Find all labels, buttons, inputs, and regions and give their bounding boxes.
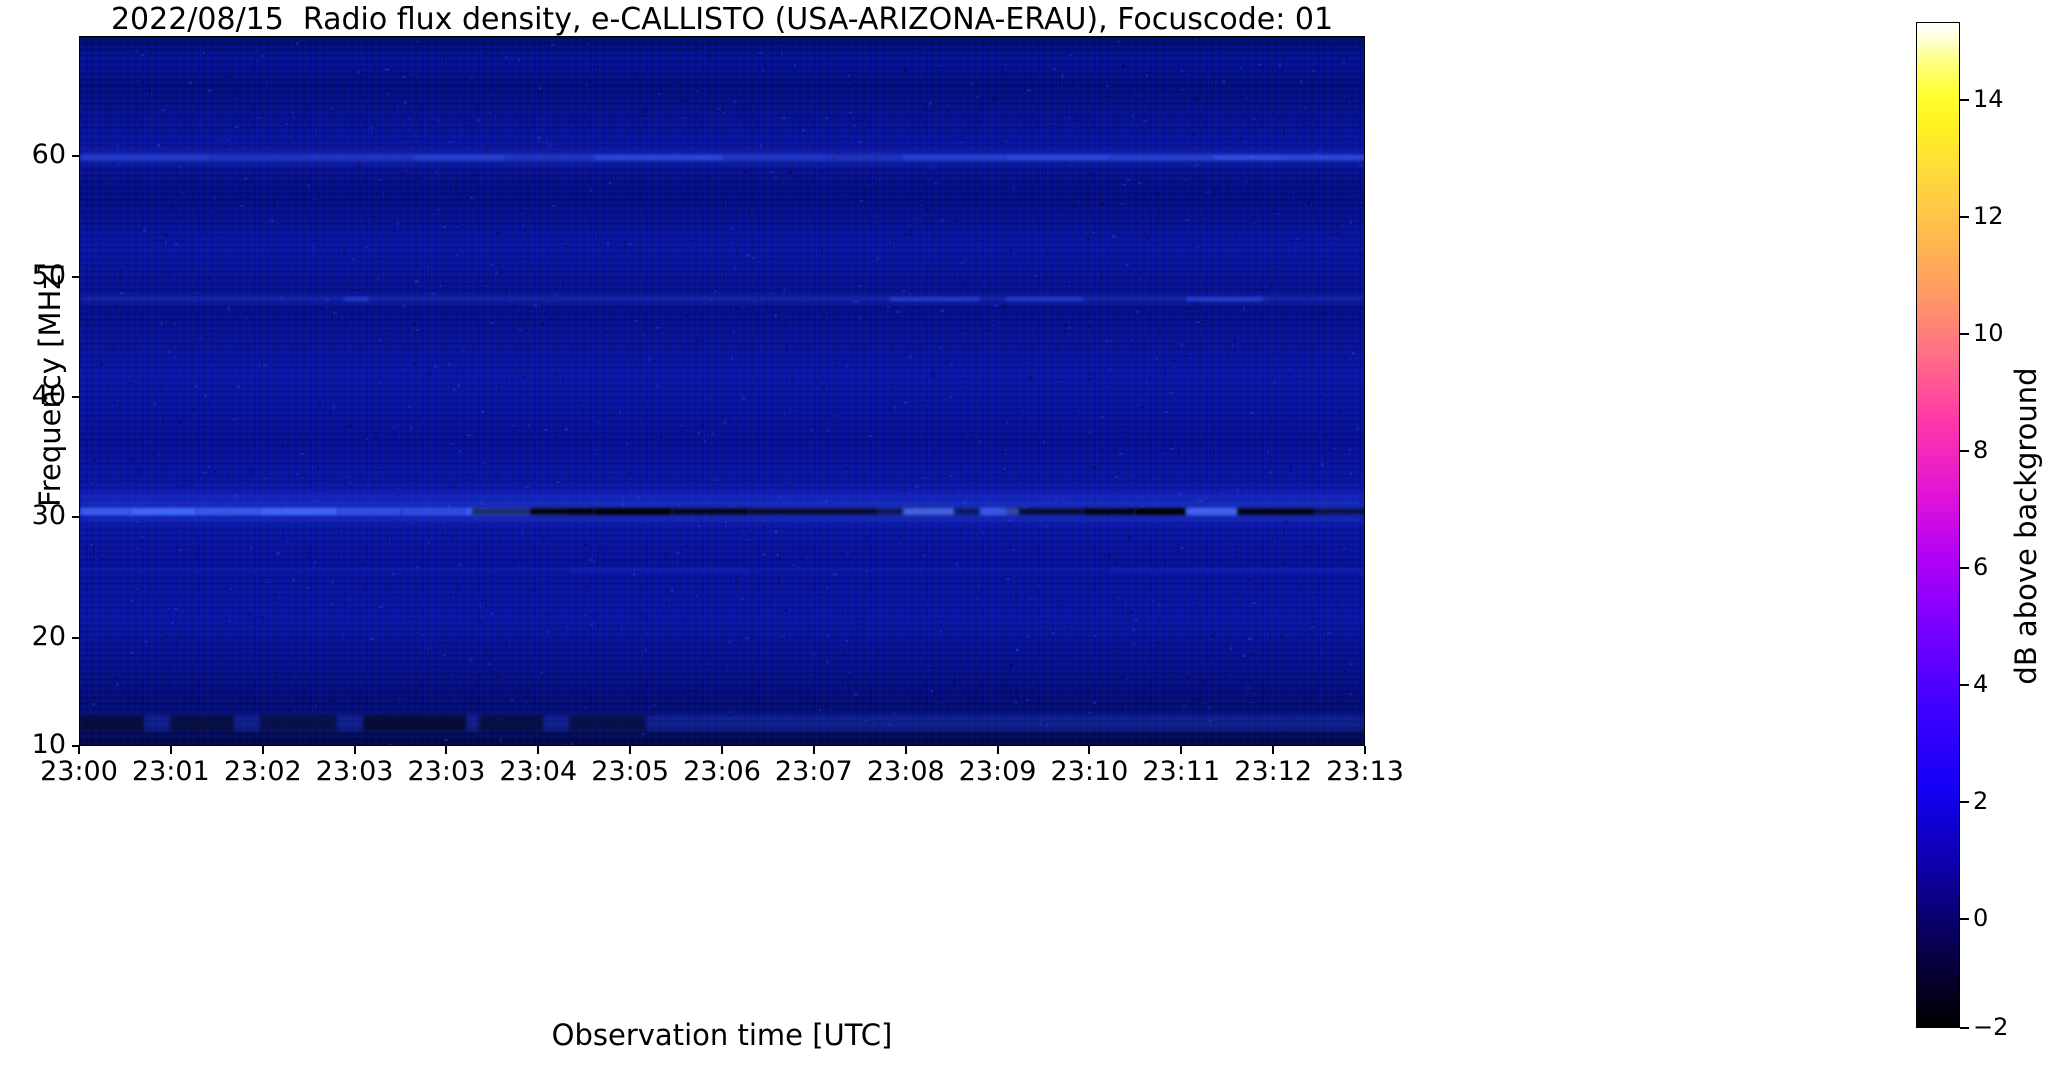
spectrogram-speckle — [1175, 339, 1177, 341]
spectrogram-speckle — [344, 90, 346, 92]
spectrogram-speckle — [205, 269, 208, 271]
spectrogram-band-segment — [337, 508, 401, 515]
spectrogram-speckle — [809, 527, 812, 528]
spectrogram-speckle — [1029, 516, 1031, 518]
spectrogram-speckle — [519, 333, 522, 334]
spectrogram-speckle — [259, 462, 261, 465]
spectrogram-speckle — [1029, 598, 1032, 599]
spectrogram-speckle — [1206, 98, 1208, 101]
spectrogram-speckle — [1090, 173, 1093, 175]
spectrogram-speckle — [1027, 635, 1029, 638]
spectrogram-speckle — [1004, 64, 1007, 65]
spectrogram-speckle — [1222, 190, 1226, 192]
spectrogram-speckle — [590, 623, 593, 626]
spectrogram-speckle — [485, 178, 486, 180]
spectrogram-speckle — [349, 482, 351, 485]
spectrogram-speckle — [450, 58, 451, 59]
spectrogram-speckle — [978, 586, 980, 588]
spectrogram-speckle — [1078, 410, 1080, 412]
spectrogram-speckle — [896, 311, 900, 313]
spectrogram-band-segment — [903, 508, 954, 515]
spectrogram-speckle — [729, 711, 731, 713]
spectrogram-speckle — [341, 634, 344, 635]
spectrogram-speckle — [518, 159, 521, 161]
spectrogram-band-segment — [344, 297, 370, 301]
spectrogram-speckle — [422, 634, 425, 636]
spectrogram-band-dark-segment — [479, 715, 543, 731]
spectrogram-speckle — [1285, 520, 1288, 523]
spectrogram-speckle — [1206, 657, 1210, 659]
spectrogram-speckle — [979, 440, 981, 443]
spectrogram-speckle — [581, 198, 582, 200]
spectrogram-speckle — [926, 132, 929, 133]
spectrogram-speckle — [1146, 74, 1147, 77]
spectrogram-speckle — [1117, 472, 1121, 473]
spectrogram-speckle — [762, 499, 765, 500]
spectrogram-speckle — [817, 603, 819, 604]
spectrogram-speckle — [478, 674, 482, 676]
spectrogram-speckle — [428, 541, 430, 543]
spectrogram-speckle — [87, 418, 90, 420]
spectrogram-speckle — [993, 98, 996, 101]
spectrogram-speckle — [971, 82, 973, 84]
spectrogram-speckle — [155, 239, 158, 242]
spectrogram-speckle — [434, 280, 435, 283]
spectrogram-speckle — [167, 273, 169, 275]
spectrogram-speckle — [600, 330, 601, 333]
spectrogram-speckle — [505, 644, 507, 647]
spectrogram-speckle — [1037, 585, 1040, 586]
spectrogram-speckle — [389, 586, 391, 588]
spectrogram-speckle — [909, 293, 910, 296]
spectrogram-speckle — [976, 598, 977, 600]
spectrogram-speckle — [819, 404, 820, 406]
spectrogram-speckle — [1268, 153, 1270, 154]
spectrogram-speckle — [791, 379, 793, 382]
spectrogram-speckle — [153, 211, 154, 214]
spectrogram-speckle — [685, 315, 689, 317]
spectrogram-speckle — [765, 349, 768, 351]
spectrogram-speckle — [998, 73, 999, 74]
spectrogram-speckle — [929, 566, 931, 568]
spectrogram-speckle — [209, 39, 211, 42]
spectrogram-speckle — [285, 541, 289, 542]
spectrogram-speckle — [890, 149, 893, 151]
spectrogram-speckle — [1093, 499, 1096, 500]
spectrogram-speckle — [500, 541, 502, 544]
spectrogram-speckle — [243, 321, 244, 323]
spectrogram-speckle — [677, 708, 679, 710]
spectrogram-speckle — [1363, 155, 1365, 157]
spectrogram-speckle — [414, 332, 415, 335]
spectrogram-speckle — [1112, 235, 1116, 237]
spectrogram-speckle — [1181, 70, 1183, 72]
spectrogram-speckle — [500, 529, 504, 530]
spectrogram-speckle — [1045, 525, 1046, 528]
spectrogram-speckle — [312, 247, 314, 249]
spectrogram-speckle — [246, 300, 248, 302]
spectrogram-speckle — [404, 101, 406, 104]
spectrogram-speckle — [826, 312, 827, 315]
spectrogram-speckle — [1056, 425, 1058, 427]
spectrogram-speckle — [858, 155, 860, 158]
spectrogram-speckle — [619, 411, 622, 413]
spectrogram-speckle — [704, 259, 706, 261]
spectrogram-speckle — [117, 164, 121, 165]
spectrogram-speckle — [116, 145, 118, 147]
spectrogram-speckle — [698, 524, 700, 527]
spectrogram-speckle — [664, 696, 666, 698]
spectrogram-speckle — [279, 596, 280, 599]
spectrogram-speckle — [1022, 410, 1024, 413]
spectrogram-speckle — [389, 542, 390, 544]
spectrogram-speckle — [827, 56, 830, 57]
spectrogram-speckle — [279, 533, 282, 534]
spectrogram-speckle — [882, 200, 885, 201]
spectrogram-speckle — [628, 731, 630, 732]
spectrogram-speckle — [343, 252, 346, 254]
spectrogram-speckle — [774, 530, 777, 533]
spectrogram-speckle — [1124, 603, 1126, 605]
spectrogram-speckle — [1018, 475, 1019, 476]
y-axis-tick-mark — [72, 516, 80, 518]
spectrogram-speckle — [953, 679, 956, 681]
spectrogram-speckle — [391, 156, 392, 157]
spectrogram-speckle — [155, 657, 157, 660]
spectrogram-speckle — [1311, 204, 1312, 207]
spectrogram-speckle — [877, 725, 880, 728]
spectrogram-speckle — [858, 285, 860, 287]
spectrogram-speckle — [565, 744, 567, 745]
spectrogram-speckle — [440, 285, 443, 287]
spectrogram-speckle — [1195, 164, 1199, 166]
spectrogram-speckle — [996, 474, 998, 476]
spectrogram-speckle — [1034, 275, 1037, 277]
spectrogram-speckle — [265, 41, 268, 43]
spectrogram-speckle — [1193, 495, 1197, 497]
spectrogram-speckle — [176, 221, 178, 223]
spectrogram-speckle — [383, 192, 384, 195]
spectrogram-speckle — [1336, 232, 1338, 233]
spectrogram-speckle — [911, 292, 913, 294]
spectrogram-speckle — [374, 216, 378, 218]
spectrogram-speckle — [815, 676, 817, 679]
spectrogram-speckle — [859, 141, 861, 143]
spectrogram-band-dark-segment — [1006, 508, 1083, 515]
spectrogram-speckle — [370, 638, 374, 641]
spectrogram-speckle — [167, 351, 171, 353]
spectrogram-band-dark-segment — [1135, 508, 1186, 515]
spectrogram-band-segment — [80, 155, 209, 160]
spectrogram-speckle — [294, 711, 297, 712]
spectrogram-speckle — [961, 262, 964, 264]
spectrogram-speckle — [971, 717, 973, 719]
spectrogram-speckle — [258, 117, 261, 119]
spectrogram-speckle — [731, 357, 733, 360]
colorbar — [1916, 22, 1960, 1028]
spectrogram-speckle — [533, 588, 535, 590]
spectrogram-speckle — [727, 718, 731, 719]
spectrogram-speckle — [1344, 356, 1347, 359]
spectrogram-speckle — [624, 499, 625, 501]
spectrogram-speckle — [295, 528, 297, 530]
spectrogram-speckle — [631, 614, 633, 615]
spectrogram-speckle — [986, 330, 990, 332]
spectrogram-speckle — [642, 111, 646, 113]
y-axis-label: Frequency [MHz] — [33, 30, 67, 740]
spectrogram-speckle — [770, 292, 772, 293]
spectrogram-speckle — [1059, 209, 1063, 211]
spectrogram-speckle — [1140, 505, 1143, 508]
spectrogram-speckle — [525, 486, 528, 488]
spectrogram-speckle — [1252, 93, 1253, 94]
y-axis-tick-mark — [72, 396, 80, 398]
spectrogram-speckle — [444, 197, 446, 200]
spectrogram-speckle — [1057, 86, 1058, 89]
spectrogram-speckle — [628, 472, 631, 475]
spectrogram-speckle — [1247, 687, 1250, 689]
spectrogram-speckle — [752, 246, 756, 247]
spectrogram-band-segment — [890, 297, 980, 301]
spectrogram-speckle — [1271, 284, 1273, 287]
spectrogram-speckle — [480, 606, 481, 607]
spectrogram-speckle — [691, 690, 695, 691]
spectrogram-speckle — [571, 295, 574, 296]
spectrogram-speckle — [129, 459, 133, 461]
spectrogram-speckle — [973, 539, 975, 541]
spectrogram-speckle — [739, 645, 740, 648]
spectrogram-speckle — [489, 301, 491, 303]
spectrogram-speckle — [235, 528, 238, 530]
spectrogram-speckle — [674, 532, 675, 533]
x-axis-tick-mark — [1088, 746, 1090, 754]
spectrogram-speckle — [1217, 50, 1218, 51]
spectrogram-speckle — [1292, 416, 1293, 417]
spectrogram-speckle — [249, 471, 253, 473]
spectrogram-speckle — [1086, 238, 1090, 240]
spectrogram-speckle — [1188, 308, 1191, 310]
spectrogram-speckle — [622, 503, 624, 506]
spectrogram-speckle — [802, 565, 804, 568]
spectrogram-speckle — [646, 692, 648, 693]
spectrogram-speckle — [704, 78, 707, 81]
spectrogram-speckle — [1122, 65, 1123, 67]
spectrogram-speckle — [696, 90, 698, 93]
spectrogram-speckle — [579, 402, 582, 404]
spectrogram-speckle — [706, 103, 710, 104]
spectrogram-band-segment — [311, 155, 414, 160]
spectrogram-speckle — [699, 292, 701, 295]
spectrogram-speckle — [1209, 720, 1212, 722]
spectrogram-speckle — [821, 249, 823, 251]
spectrogram-speckle — [813, 121, 815, 123]
spectrogram-speckle — [894, 406, 896, 409]
spectrogram-speckle — [802, 295, 804, 298]
spectrogram-speckle — [542, 715, 544, 718]
spectrogram-speckle — [1037, 591, 1040, 594]
x-axis-tick-mark — [1364, 746, 1366, 754]
spectrogram-speckle — [849, 672, 851, 675]
spectrogram-speckle — [1336, 701, 1339, 702]
spectrogram-speckle — [1276, 673, 1279, 675]
spectrogram-speckle — [1199, 442, 1202, 444]
spectrogram-speckle — [89, 554, 92, 556]
spectrogram-speckle — [1277, 359, 1278, 361]
spectrogram-speckle — [281, 296, 284, 297]
spectrogram-speckle — [1156, 357, 1159, 359]
spectrogram-speckle — [244, 177, 247, 180]
spectrogram-speckle — [826, 587, 828, 589]
spectrogram-speckle — [453, 592, 455, 593]
spectrogram-speckle — [550, 651, 551, 653]
x-axis-tick-mark — [354, 746, 356, 754]
spectrogram-speckle — [1279, 63, 1281, 65]
spectrogram-speckle — [917, 307, 920, 309]
spectrogram-speckle — [111, 182, 113, 183]
spectrogram-speckle — [1292, 192, 1293, 194]
spectrogram-speckle — [1006, 687, 1009, 690]
spectrogram-speckle — [1250, 156, 1254, 158]
spectrogram-speckle — [402, 304, 405, 306]
spectrogram-speckle — [397, 520, 398, 522]
spectrogram-speckle — [1108, 369, 1111, 372]
x-axis-tick-label: 23:13 — [1295, 757, 1435, 787]
spectrogram-speckle — [721, 272, 722, 274]
spectrogram-speckle — [1311, 494, 1314, 496]
spectrogram-speckle — [1189, 461, 1191, 462]
spectrogram-speckle — [645, 403, 649, 405]
spectrogram-speckle — [1144, 736, 1145, 737]
spectrogram-speckle — [1154, 672, 1156, 673]
spectrogram-speckle — [119, 277, 122, 279]
x-axis-tick-mark — [1180, 746, 1182, 754]
spectrogram-speckle — [698, 519, 701, 521]
spectrogram-speckle — [994, 428, 995, 430]
spectrogram-speckle — [182, 192, 185, 194]
spectrogram-speckle — [673, 152, 674, 155]
spectrogram-speckle — [1195, 303, 1198, 305]
spectrogram-speckle — [940, 630, 942, 633]
spectrogram-speckle — [1174, 348, 1177, 349]
spectrogram-speckle — [981, 515, 985, 516]
spectrogram-speckle — [470, 196, 474, 199]
spectrogram-speckle — [1323, 525, 1326, 526]
spectrogram-speckle — [345, 476, 348, 477]
spectrogram-speckle — [709, 92, 712, 94]
spectrogram-speckle — [1003, 304, 1007, 306]
spectrogram-speckle — [539, 87, 542, 89]
spectrogram-speckle — [165, 635, 168, 637]
spectrogram-speckle — [1336, 224, 1338, 226]
spectrogram-speckle — [835, 158, 837, 159]
spectrogram-speckle — [945, 362, 947, 365]
spectrogram-speckle — [306, 212, 307, 214]
spectrogram-speckle — [173, 323, 176, 324]
spectrogram-feature-bands — [80, 37, 1364, 745]
spectrogram-speckle — [772, 593, 773, 595]
spectrogram-speckle — [1321, 651, 1322, 653]
spectrogram-speckle — [192, 408, 195, 411]
spectrogram-speckle — [1138, 399, 1142, 400]
spectrogram-speckle — [490, 264, 493, 266]
spectrogram-speckle — [386, 92, 388, 94]
spectrogram-speckle — [541, 322, 544, 325]
spectrogram-speckle — [1153, 243, 1156, 245]
spectrogram-speckle — [1273, 268, 1276, 270]
spectrogram-speckle — [791, 694, 794, 696]
spectrogram-speckle — [1097, 127, 1100, 129]
spectrogram-speckle — [263, 364, 267, 367]
spectrogram-speckle — [352, 258, 355, 260]
spectrogram-speckle — [357, 71, 360, 74]
spectrogram-speckle — [408, 406, 411, 408]
spectrogram-speckle — [1187, 676, 1190, 679]
spectrogram-speckle — [1202, 680, 1203, 682]
spectrogram-speckle — [1187, 167, 1189, 168]
spectrogram-speckle — [397, 110, 398, 112]
spectrogram-speckle — [279, 712, 281, 715]
spectrogram-speckle — [869, 652, 870, 655]
spectrogram-speckle — [1236, 489, 1238, 492]
spectrogram-band-segment — [723, 155, 826, 160]
spectrogram-speckle — [747, 539, 751, 541]
spectrogram-speckle — [648, 359, 652, 361]
spectrogram-speckle — [189, 81, 192, 84]
spectrogram-speckle — [353, 290, 357, 291]
spectrogram-speckle — [1193, 153, 1195, 155]
spectrogram-speckle — [546, 614, 549, 616]
spectrogram-speckle — [505, 292, 508, 294]
spectrogram-speckle — [141, 54, 145, 56]
spectrogram-speckle — [1304, 302, 1305, 304]
spectrogram-speckle — [1143, 120, 1147, 122]
spectrogram-speckle — [521, 661, 523, 662]
spectrogram-speckle — [429, 127, 431, 130]
spectrogram-speckle — [740, 494, 743, 495]
spectrogram-speckle — [160, 322, 163, 325]
spectrogram-speckle — [774, 314, 777, 317]
spectrogram-speckle — [1224, 143, 1227, 145]
spectrogram-speckle — [1204, 218, 1206, 220]
spectrogram-speckle — [461, 369, 464, 372]
spectrogram-speckle — [1350, 221, 1353, 223]
spectrogram-speckle — [479, 621, 483, 623]
spectrogram-speckle — [505, 56, 507, 59]
spectrogram-speckle — [1225, 411, 1227, 413]
spectrogram-speckle — [223, 167, 224, 169]
spectrogram-speckle — [934, 234, 935, 236]
spectrogram-speckle — [299, 438, 301, 441]
spectrogram-speckle — [123, 412, 125, 414]
spectrogram-speckle — [1068, 117, 1070, 119]
spectrogram-speckle — [1052, 632, 1055, 634]
spectrogram-speckle — [609, 182, 612, 184]
spectrogram-speckle — [1248, 637, 1252, 639]
spectrogram-speckle — [395, 690, 396, 692]
spectrogram-speckle — [253, 653, 257, 654]
spectrogram-speckle — [473, 174, 477, 176]
spectrogram-speckle — [1119, 453, 1123, 455]
spectrogram-speckle — [1163, 338, 1164, 340]
spectrogram-speckle — [467, 434, 471, 437]
spectrogram-speckle — [180, 165, 181, 168]
x-axis-tick-mark — [445, 746, 447, 754]
spectrogram-speckle — [707, 441, 710, 442]
spectrogram-speckle — [735, 580, 739, 582]
spectrogram-speckle — [833, 415, 836, 417]
spectrogram-speckle — [521, 532, 524, 534]
spectrogram-speckle — [372, 725, 375, 728]
